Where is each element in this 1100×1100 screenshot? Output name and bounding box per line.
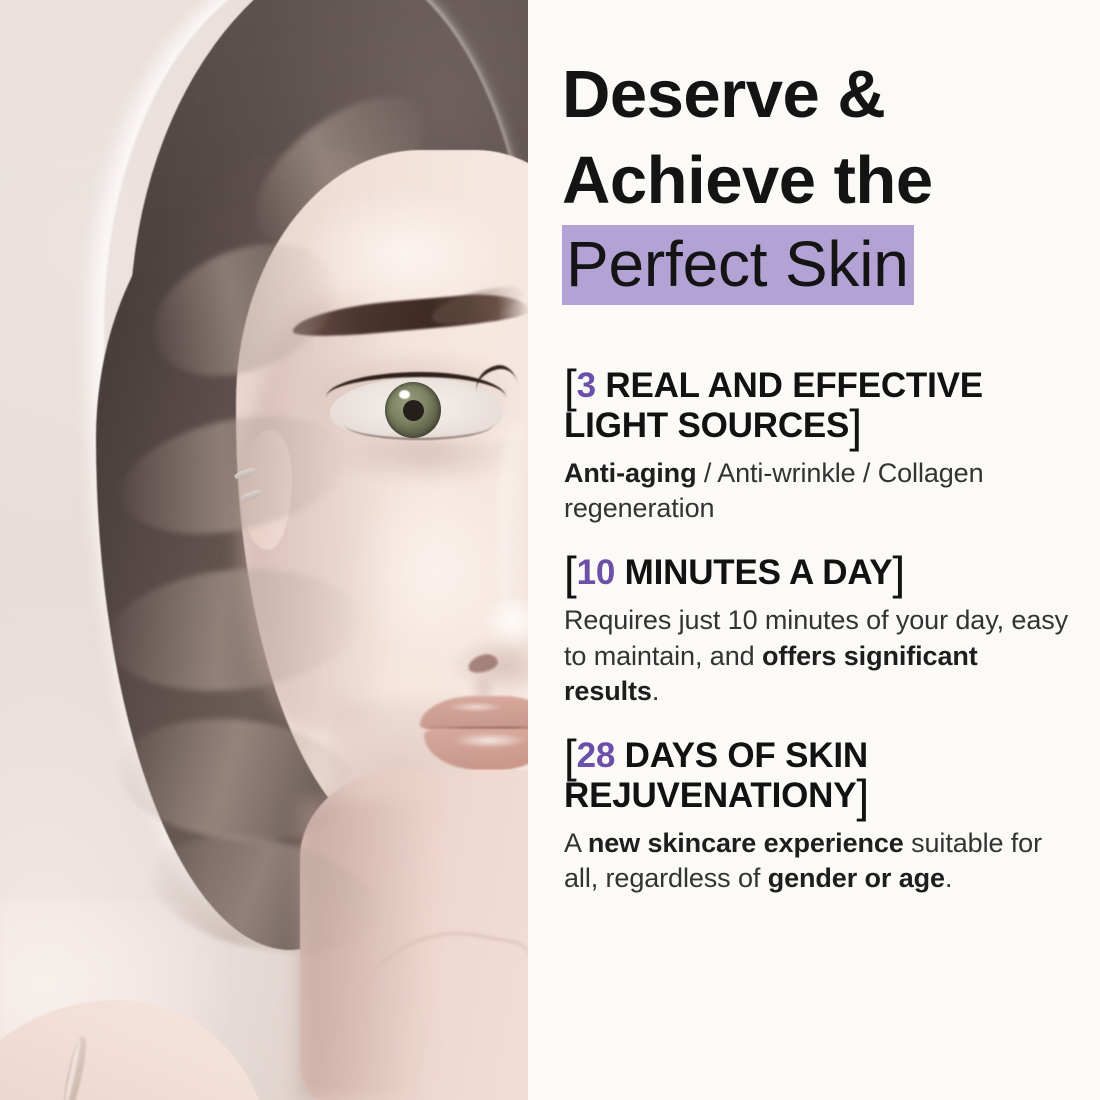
bracket-open: [ bbox=[564, 730, 577, 782]
model-photo bbox=[0, 0, 528, 1100]
feature-number: 10 bbox=[577, 553, 616, 592]
feature-block: [10 MINUTES A DAY]Requires just 10 minut… bbox=[564, 553, 1080, 710]
feature-heading: [28 DAYS OF SKIN REJUVENATIONY] bbox=[564, 736, 1080, 816]
feature-body-emphasis: gender or age bbox=[768, 863, 945, 893]
pupil bbox=[403, 400, 424, 421]
feature-heading: [10 MINUTES A DAY] bbox=[564, 553, 1080, 593]
feature-body-emphasis: new skincare experience bbox=[588, 828, 904, 858]
feature-body: A new skincare experience suitable for a… bbox=[564, 826, 1080, 897]
feature-body: Anti-aging / Anti-wrinkle / Collagen reg… bbox=[564, 456, 1080, 527]
headline-line-1: Deserve & bbox=[562, 52, 1082, 138]
bracket-close: ] bbox=[856, 770, 869, 822]
feature-body: Requires just 10 minutes of your day, ea… bbox=[564, 603, 1080, 710]
promo-poster: Deserve & Achieve the Perfect Skin [3 RE… bbox=[0, 0, 1100, 1100]
feature-body-emphasis: Anti-aging bbox=[564, 458, 696, 488]
feature-number: 3 bbox=[577, 366, 596, 405]
bracket-close: ] bbox=[849, 400, 862, 452]
headline-highlight-wrap: Perfect Skin bbox=[562, 224, 1082, 306]
cheek-highlight bbox=[350, 470, 520, 670]
bracket-close: ] bbox=[892, 547, 905, 599]
feature-body-text: A bbox=[564, 828, 588, 858]
feature-list: [3 REAL AND EFFECTIVE LIGHT SOURCES]Anti… bbox=[564, 366, 1080, 897]
bracket-open: [ bbox=[564, 360, 577, 412]
feature-block: [3 REAL AND EFFECTIVE LIGHT SOURCES]Anti… bbox=[564, 366, 1080, 527]
feature-heading-text: MINUTES A DAY bbox=[615, 553, 892, 592]
text-panel: Deserve & Achieve the Perfect Skin [3 RE… bbox=[528, 0, 1100, 1100]
feature-block: [28 DAYS OF SKIN REJUVENATIONY]A new ski… bbox=[564, 736, 1080, 897]
feature-heading-text: REAL AND EFFECTIVE LIGHT SOURCES bbox=[564, 366, 983, 445]
headline-line-2: Achieve the bbox=[562, 138, 1082, 224]
feature-number: 28 bbox=[577, 736, 616, 775]
bracket-open: [ bbox=[564, 547, 577, 599]
headline: Deserve & Achieve the Perfect Skin bbox=[562, 52, 1082, 305]
feature-body-text: . bbox=[652, 676, 659, 706]
feature-body-text: . bbox=[945, 863, 952, 893]
headline-highlight: Perfect Skin bbox=[562, 225, 914, 305]
feature-heading: [3 REAL AND EFFECTIVE LIGHT SOURCES] bbox=[564, 366, 1080, 446]
